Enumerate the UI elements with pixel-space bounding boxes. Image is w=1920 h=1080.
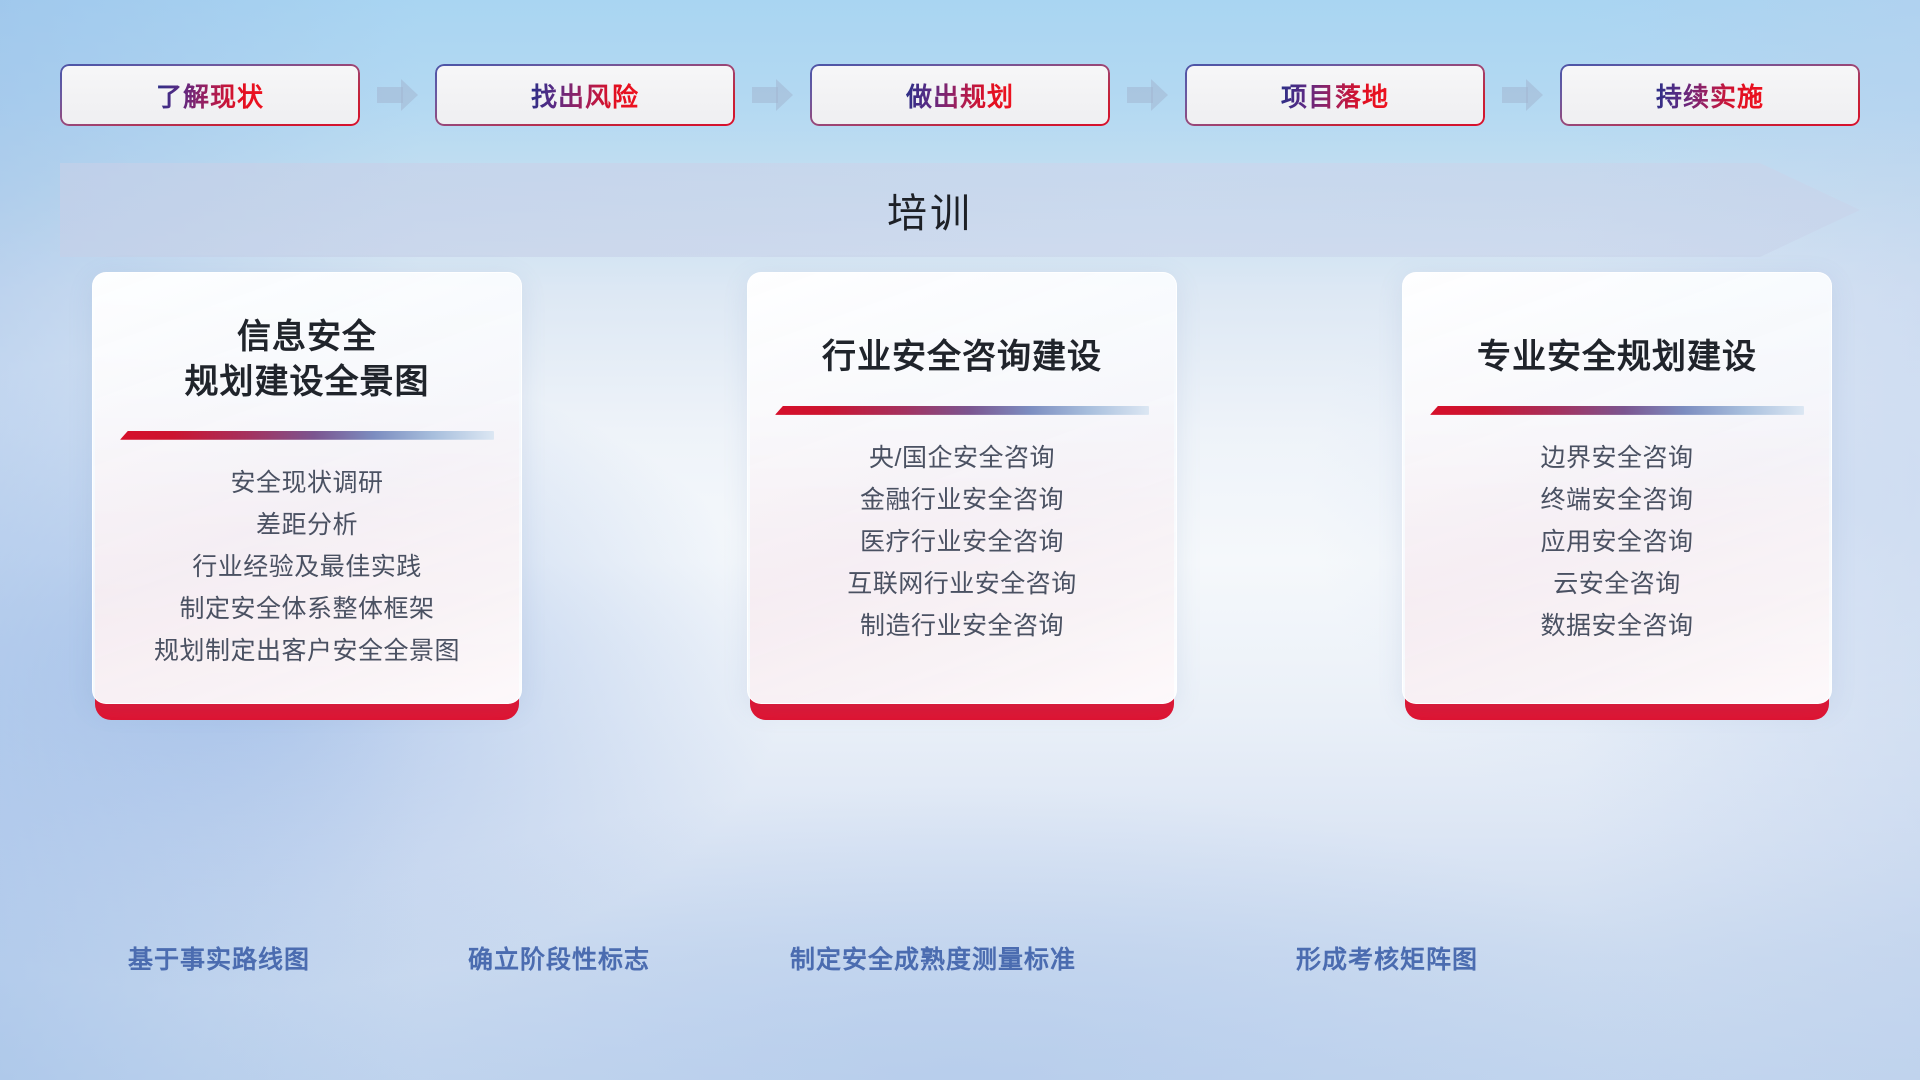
list-item: 差距分析: [256, 510, 358, 540]
list-item: 云安全咨询: [1553, 569, 1681, 599]
list-item: 安全现状调研: [230, 468, 383, 498]
card-divider: [775, 406, 1149, 415]
step-label: 找出风险: [531, 77, 639, 114]
caption-3: 制定安全成熟度测量标准: [790, 940, 1076, 976]
list-item: 制造行业安全咨询: [860, 611, 1064, 641]
list-item: 规划制定出客户安全全景图: [154, 636, 460, 666]
list-item: 互联网行业安全咨询: [847, 569, 1077, 599]
banner-title: 培训: [60, 163, 1860, 257]
step-pill-4[interactable]: 项目落地: [1185, 64, 1485, 126]
list-item: 制定安全体系整体框架: [179, 594, 434, 624]
caption-row: 基于事实路线图 确立阶段性标志 制定安全成熟度测量标准 形成考核矩阵图: [0, 940, 1920, 984]
card-body-1[interactable]: 信息安全 规划建设全景图 安全现状调研 差距分析 行业经验及最佳实践 制定安全体…: [92, 272, 522, 704]
list-item: 行业经验及最佳实践: [192, 552, 422, 582]
training-banner: 培训: [60, 163, 1860, 257]
card-row: 信息安全 规划建设全景图 安全现状调研 差距分析 行业经验及最佳实践 制定安全体…: [92, 272, 1832, 720]
step-pill-3[interactable]: 做出规划: [810, 64, 1110, 126]
step-pill-5[interactable]: 持续实施: [1560, 64, 1860, 126]
card-body-3[interactable]: 专业安全规划建设 边界安全咨询 终端安全咨询 应用安全咨询 云安全咨询 数据安全…: [1402, 272, 1832, 704]
card-1: 信息安全 规划建设全景图 安全现状调研 差距分析 行业经验及最佳实践 制定安全体…: [92, 272, 522, 720]
arrow-right-icon: [377, 78, 419, 112]
step-label: 持续实施: [1656, 77, 1764, 114]
card-title: 专业安全规划建设: [1403, 335, 1831, 380]
card-2: 行业安全咨询建设 央/国企安全咨询 金融行业安全咨询 医疗行业安全咨询 互联网行…: [747, 272, 1177, 720]
card-body-2[interactable]: 行业安全咨询建设 央/国企安全咨询 金融行业安全咨询 医疗行业安全咨询 互联网行…: [747, 272, 1177, 704]
caption-1: 基于事实路线图: [128, 940, 310, 976]
step-label: 了解现状: [156, 77, 264, 114]
arrow-right-icon: [1127, 78, 1169, 112]
arrow-right-icon: [1502, 78, 1544, 112]
card-title: 信息安全 规划建设全景图: [93, 315, 521, 405]
step-label: 项目落地: [1281, 77, 1389, 114]
card-item-list-2: 央/国企安全咨询 金融行业安全咨询 医疗行业安全咨询 互联网行业安全咨询 制造行…: [748, 443, 1176, 641]
list-item: 数据安全咨询: [1540, 611, 1693, 641]
process-step-bar: 了解现状 找出风险 做出规划 项目落地 持续实施: [60, 64, 1860, 126]
list-item: 央/国企安全咨询: [869, 443, 1055, 473]
list-item: 终端安全咨询: [1540, 485, 1693, 515]
list-item: 应用安全咨询: [1540, 527, 1693, 557]
card-divider: [120, 431, 494, 440]
arrow-right-icon: [752, 78, 794, 112]
list-item: 边界安全咨询: [1540, 443, 1693, 473]
card-item-list-1: 安全现状调研 差距分析 行业经验及最佳实践 制定安全体系整体框架 规划制定出客户…: [93, 468, 521, 666]
list-item: 金融行业安全咨询: [860, 485, 1064, 515]
step-pill-1[interactable]: 了解现状: [60, 64, 360, 126]
step-pill-2[interactable]: 找出风险: [435, 64, 735, 126]
caption-4: 形成考核矩阵图: [1296, 940, 1478, 976]
card-item-list-3: 边界安全咨询 终端安全咨询 应用安全咨询 云安全咨询 数据安全咨询: [1403, 443, 1831, 641]
step-label: 做出规划: [906, 77, 1014, 114]
card-3: 专业安全规划建设 边界安全咨询 终端安全咨询 应用安全咨询 云安全咨询 数据安全…: [1402, 272, 1832, 720]
caption-2: 确立阶段性标志: [468, 940, 650, 976]
card-divider: [1430, 406, 1804, 415]
card-title: 行业安全咨询建设: [748, 335, 1176, 380]
list-item: 医疗行业安全咨询: [860, 527, 1064, 557]
slide-canvas: 了解现状 找出风险 做出规划 项目落地 持续实施 培训 信息安全 规划建设全景图: [0, 0, 1920, 1080]
